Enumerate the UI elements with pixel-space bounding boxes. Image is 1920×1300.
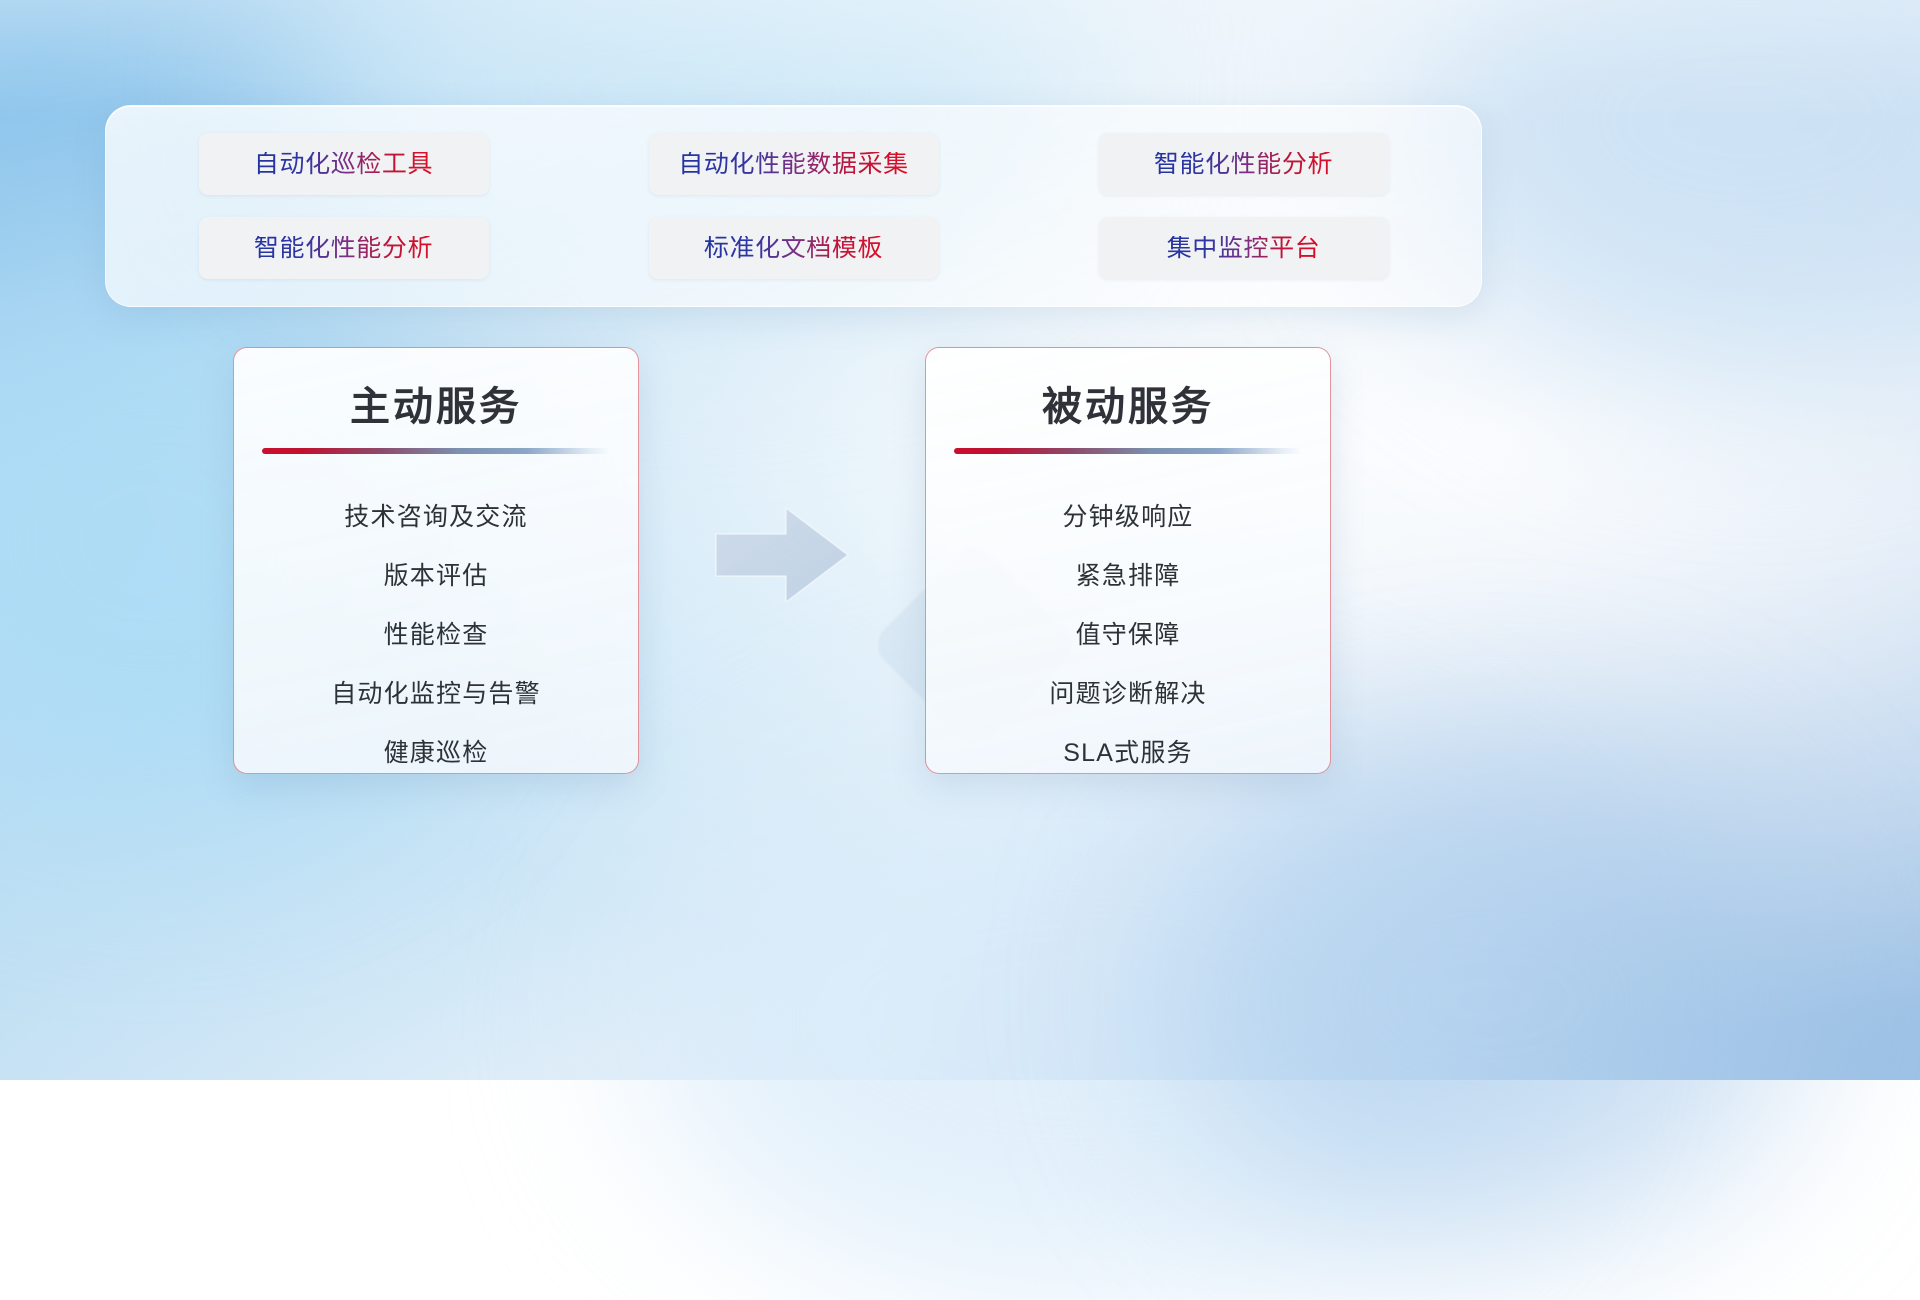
service-item: 问题诊断解决 — [1049, 665, 1206, 724]
service-item: 性能检查 — [384, 606, 489, 665]
service-item: 健康巡检 — [384, 724, 489, 774]
service-item-list: 分钟级响应 紧急排障 值守保障 问题诊断解决 SLA式服务 — [926, 488, 1330, 774]
background-blob-bottom-right — [1180, 760, 1800, 1240]
capability-tag-label: 智能化性能分析 — [1154, 152, 1333, 177]
capability-tag-2[interactable]: 智能化性能分析 — [1099, 133, 1389, 195]
card-title: 被动服务 — [926, 374, 1330, 432]
capability-tag-0[interactable]: 自动化巡检工具 — [199, 133, 489, 195]
background-sheen — [0, 0, 1920, 120]
service-card-active: 主动服务 技术咨询及交流 版本评估 性能检查 自动化监控与告警 健康巡检 — [233, 347, 639, 774]
capability-tag-grid: 自动化巡检工具 自动化性能数据采集 智能化性能分析 智能化性能分析 标准化文档模… — [191, 133, 1396, 279]
capability-tag-5[interactable]: 集中监控平台 — [1099, 217, 1389, 279]
service-item: 版本评估 — [384, 547, 489, 606]
capability-tag-3[interactable]: 智能化性能分析 — [199, 217, 489, 279]
capability-tag-label: 自动化巡检工具 — [254, 152, 433, 177]
service-item: 技术咨询及交流 — [344, 488, 527, 547]
card-title-divider — [954, 448, 1302, 454]
capability-tag-label: 集中监控平台 — [1167, 236, 1321, 261]
capability-tag-1[interactable]: 自动化性能数据采集 — [649, 133, 939, 195]
service-item: 紧急排障 — [1076, 547, 1181, 606]
capability-tag-label: 标准化文档模板 — [704, 236, 883, 261]
capability-tag-label: 自动化性能数据采集 — [678, 152, 908, 177]
card-title-divider — [262, 448, 610, 454]
service-item: 分钟级响应 — [1062, 488, 1193, 547]
card-title: 主动服务 — [234, 374, 638, 432]
service-card-passive: 被动服务 分钟级响应 紧急排障 值守保障 问题诊断解决 SLA式服务 — [925, 347, 1331, 774]
service-item: 值守保障 — [1076, 606, 1181, 665]
service-item: SLA式服务 — [1063, 724, 1192, 774]
capability-tag-label: 智能化性能分析 — [254, 236, 433, 261]
right-arrow-icon — [712, 500, 852, 610]
service-item-list: 技术咨询及交流 版本评估 性能检查 自动化监控与告警 健康巡检 — [234, 488, 638, 774]
capability-tag-panel: 自动化巡检工具 自动化性能数据采集 智能化性能分析 智能化性能分析 标准化文档模… — [105, 105, 1482, 307]
capability-tag-4[interactable]: 标准化文档模板 — [649, 217, 939, 279]
service-item: 自动化监控与告警 — [331, 665, 541, 724]
